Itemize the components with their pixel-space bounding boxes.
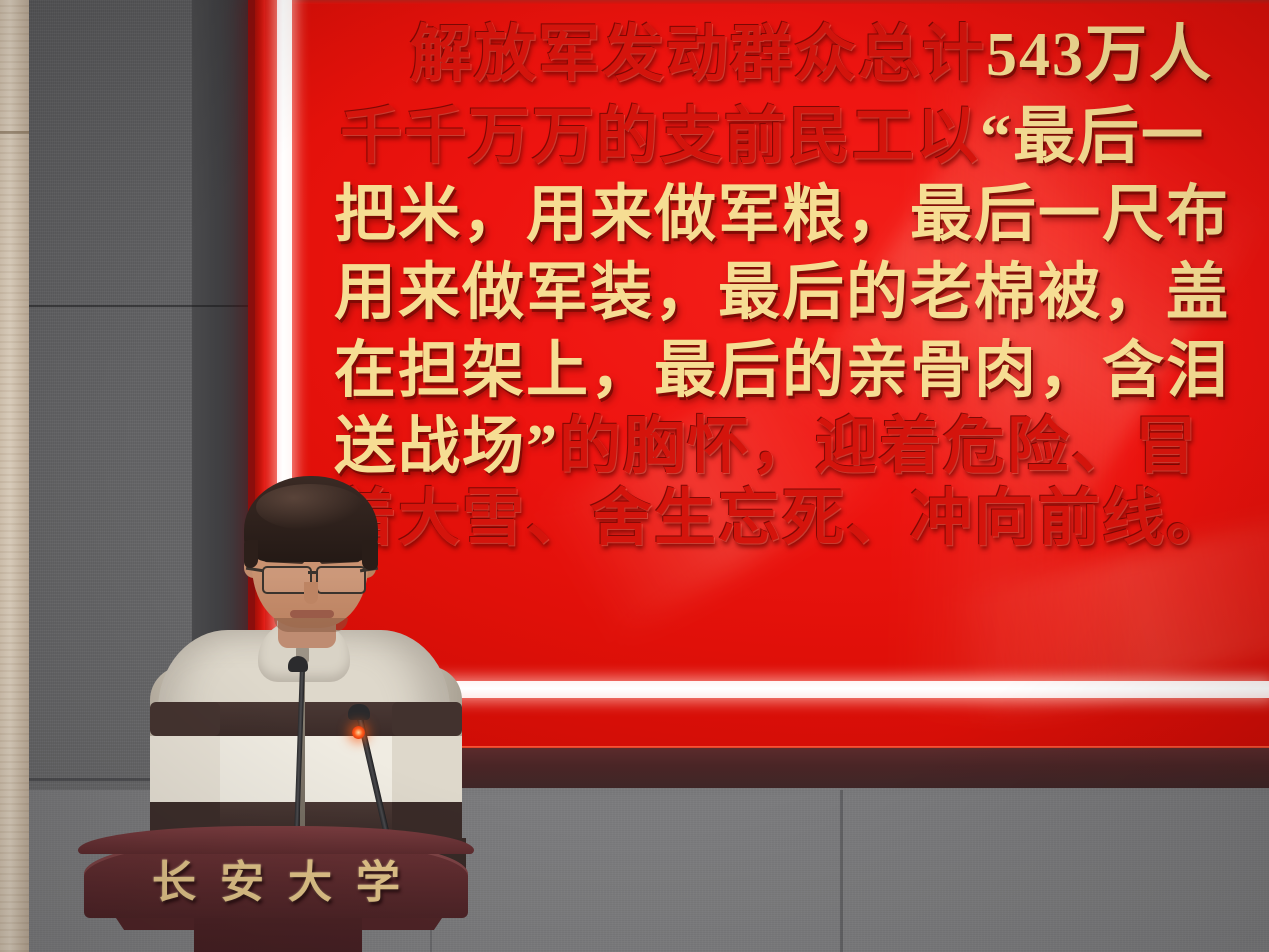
speaker-figure	[140, 470, 470, 870]
screen-top-edge	[292, 0, 1269, 4]
wood-wall-trim	[0, 0, 29, 952]
screen-light-streak	[884, 64, 1156, 712]
nose	[304, 582, 318, 604]
lectern-base	[194, 914, 362, 952]
glasses-bridge	[308, 571, 318, 574]
lectern-top-rail	[78, 826, 474, 854]
microphone-capsule-left	[288, 656, 308, 672]
microphone-indicator-light	[352, 726, 365, 739]
lectern: 长安大学	[78, 826, 474, 952]
stone-seam-upper	[28, 305, 258, 307]
screen-light-streak	[789, 46, 1269, 570]
hair	[244, 476, 378, 562]
chin-shadow	[274, 618, 348, 632]
right-sideburn	[362, 540, 378, 570]
right-sleeve-stripe	[392, 702, 462, 736]
left-sideburn	[244, 540, 258, 568]
left-sleeve-stripe	[150, 702, 220, 736]
left-sleeve-stripe	[150, 736, 220, 802]
stone-seam-vertical-right	[840, 790, 843, 952]
right-sleeve-stripe	[392, 736, 462, 802]
photo-scene: 解放军发动群众总计543万人 千千万万的支前民工以“最后一 把米，用来做军粮，最…	[0, 0, 1269, 952]
screen-light-streak	[540, 346, 901, 641]
microphone-capsule-right	[348, 704, 370, 720]
mouth	[290, 610, 334, 618]
wood-trim-seam	[0, 131, 29, 134]
glasses-right-lens	[316, 566, 366, 594]
